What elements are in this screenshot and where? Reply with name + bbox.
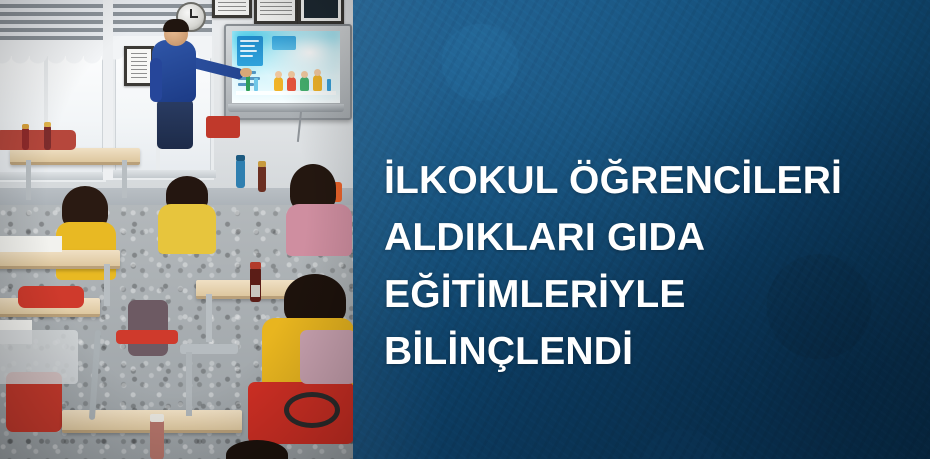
news-card: İLKOKUL ÖĞRENCİLERİ ALDIKLARI GIDA EĞİTİ… [0,0,930,459]
photo-vignette [0,0,353,459]
classroom-photo [0,0,353,459]
headline-panel: İLKOKUL ÖĞRENCİLERİ ALDIKLARI GIDA EĞİTİ… [353,0,930,459]
headline-text: İLKOKUL ÖĞRENCİLERİ ALDIKLARI GIDA EĞİTİ… [384,152,914,380]
